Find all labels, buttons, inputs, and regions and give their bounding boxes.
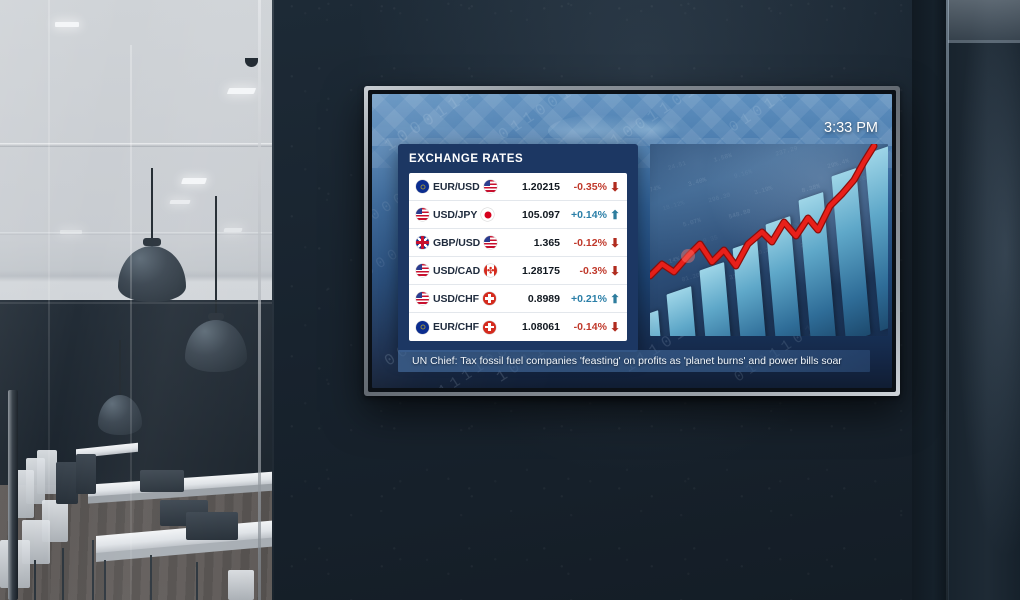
flag-us-icon — [416, 208, 429, 221]
table-row[interactable]: EUR/CHF1.08061-0.14%⬇ — [409, 313, 627, 341]
office-interior-left — [0, 0, 272, 600]
flag-ch-icon — [483, 321, 496, 334]
flag-us-icon — [416, 292, 429, 305]
wall-mounted-tv[interactable]: 1000111 0110011 1001101 010110 00000 000… — [364, 86, 900, 396]
corner-highlight — [946, 0, 949, 600]
right-wall — [948, 0, 1020, 600]
arrow-up-icon: ⬆ — [610, 293, 620, 305]
arrow-down-icon: ⬇ — [610, 265, 620, 277]
table-row[interactable]: USD/JPY105.097+0.14%⬆ — [409, 201, 627, 229]
glass-mullion — [258, 0, 261, 600]
arrow-down-icon: ⬇ — [610, 321, 620, 333]
currency-pair-cell: EUR/CHF — [416, 321, 516, 334]
room-scene: 1000111 0110011 1001101 010110 00000 000… — [0, 0, 1020, 600]
flag-ch-icon — [483, 292, 496, 305]
rate-value: 105.097 — [516, 209, 562, 221]
rate-change: -0.12%⬇ — [562, 237, 620, 249]
table-row[interactable]: USD/CHF0.8989+0.21%⬆ — [409, 285, 627, 313]
rate-value: 1.365 — [516, 237, 562, 249]
rate-change: -0.14%⬇ — [562, 321, 620, 333]
flag-eu-icon — [416, 180, 429, 193]
rate-change: +0.14%⬆ — [562, 209, 620, 221]
wall-seam — [272, 0, 274, 600]
table-row[interactable]: EUR/USD1.20215-0.35%⬇ — [409, 173, 627, 201]
currency-pair-cell: EUR/USD — [416, 180, 516, 193]
rate-change-text: -0.3% — [580, 265, 607, 277]
glass-mullion — [130, 45, 132, 600]
rate-change: -0.3%⬇ — [562, 265, 620, 277]
market-chart-photo: 11.36%24.511.58%4.21%10.29%236.282.74%3.… — [650, 144, 888, 336]
currency-pair-label: USD/JPY — [433, 209, 477, 221]
currency-pair-label: EUR/USD — [433, 181, 480, 193]
world-map-graphic — [620, 118, 680, 140]
rate-change-text: -0.12% — [574, 237, 607, 249]
flag-gb-icon — [416, 236, 429, 249]
rate-change-text: +0.14% — [571, 209, 607, 221]
rate-value: 1.28175 — [516, 265, 562, 277]
news-ticker: UN Chief: Tax fossil fuel companies 'fea… — [398, 350, 870, 372]
flag-us-icon — [484, 236, 497, 249]
currency-pair-label: USD/CAD — [433, 265, 480, 277]
currency-pair-label: GBP/USD — [433, 237, 480, 249]
table-row[interactable]: USD/CAD✤1.28175-0.3%⬇ — [409, 257, 627, 285]
flag-us-icon — [484, 180, 497, 193]
arrow-down-icon: ⬇ — [610, 237, 620, 249]
right-soffit — [948, 0, 1020, 40]
glass-mullion — [48, 0, 50, 600]
tv-inner-bezel: 1000111 0110011 1001101 010110 00000 000… — [368, 90, 896, 392]
photo-red-trend-line — [650, 144, 888, 336]
arrow-up-icon: ⬆ — [610, 209, 620, 221]
tv-screen[interactable]: 1000111 0110011 1001101 010110 00000 000… — [372, 94, 892, 388]
currency-pair-cell: USD/CAD✤ — [416, 264, 516, 277]
currency-pair-label: EUR/CHF — [433, 321, 479, 333]
rate-value: 0.8989 — [516, 293, 562, 305]
panel-title: EXCHANGE RATES — [409, 153, 627, 165]
currency-pair-cell: USD/CHF — [416, 292, 516, 305]
right-soffit-edge — [948, 40, 1020, 43]
glass-partition — [0, 0, 272, 600]
arrow-down-icon: ⬇ — [610, 181, 620, 193]
rate-change: +0.21%⬆ — [562, 293, 620, 305]
wall-corner-column — [912, 0, 948, 600]
rate-change: -0.35%⬇ — [562, 181, 620, 193]
flag-ca-icon: ✤ — [484, 264, 497, 277]
flag-jp-icon — [481, 208, 494, 221]
flag-eu-icon — [416, 321, 429, 334]
flag-us-icon — [416, 264, 429, 277]
rates-table: EUR/USD1.20215-0.35%⬇USD/JPY105.097+0.14… — [409, 173, 627, 341]
rate-change-text: -0.14% — [574, 321, 607, 333]
glass-mullion-horizontal — [0, 302, 272, 304]
news-headline: UN Chief: Tax fossil fuel companies 'fea… — [412, 355, 842, 367]
currency-pair-cell: USD/JPY — [416, 208, 516, 221]
exchange-rates-panel: EXCHANGE RATES EUR/USD1.20215-0.35%⬇USD/… — [398, 144, 638, 352]
rate-change-text: +0.21% — [571, 293, 607, 305]
rate-change-text: -0.35% — [574, 181, 607, 193]
table-row[interactable]: GBP/USD1.365-0.12%⬇ — [409, 229, 627, 257]
currency-pair-label: USD/CHF — [433, 293, 479, 305]
clock-time: 3:33 PM — [824, 120, 878, 136]
rate-value: 1.20215 — [516, 181, 562, 193]
rate-value: 1.08061 — [516, 321, 562, 333]
currency-pair-cell: GBP/USD — [416, 236, 516, 249]
